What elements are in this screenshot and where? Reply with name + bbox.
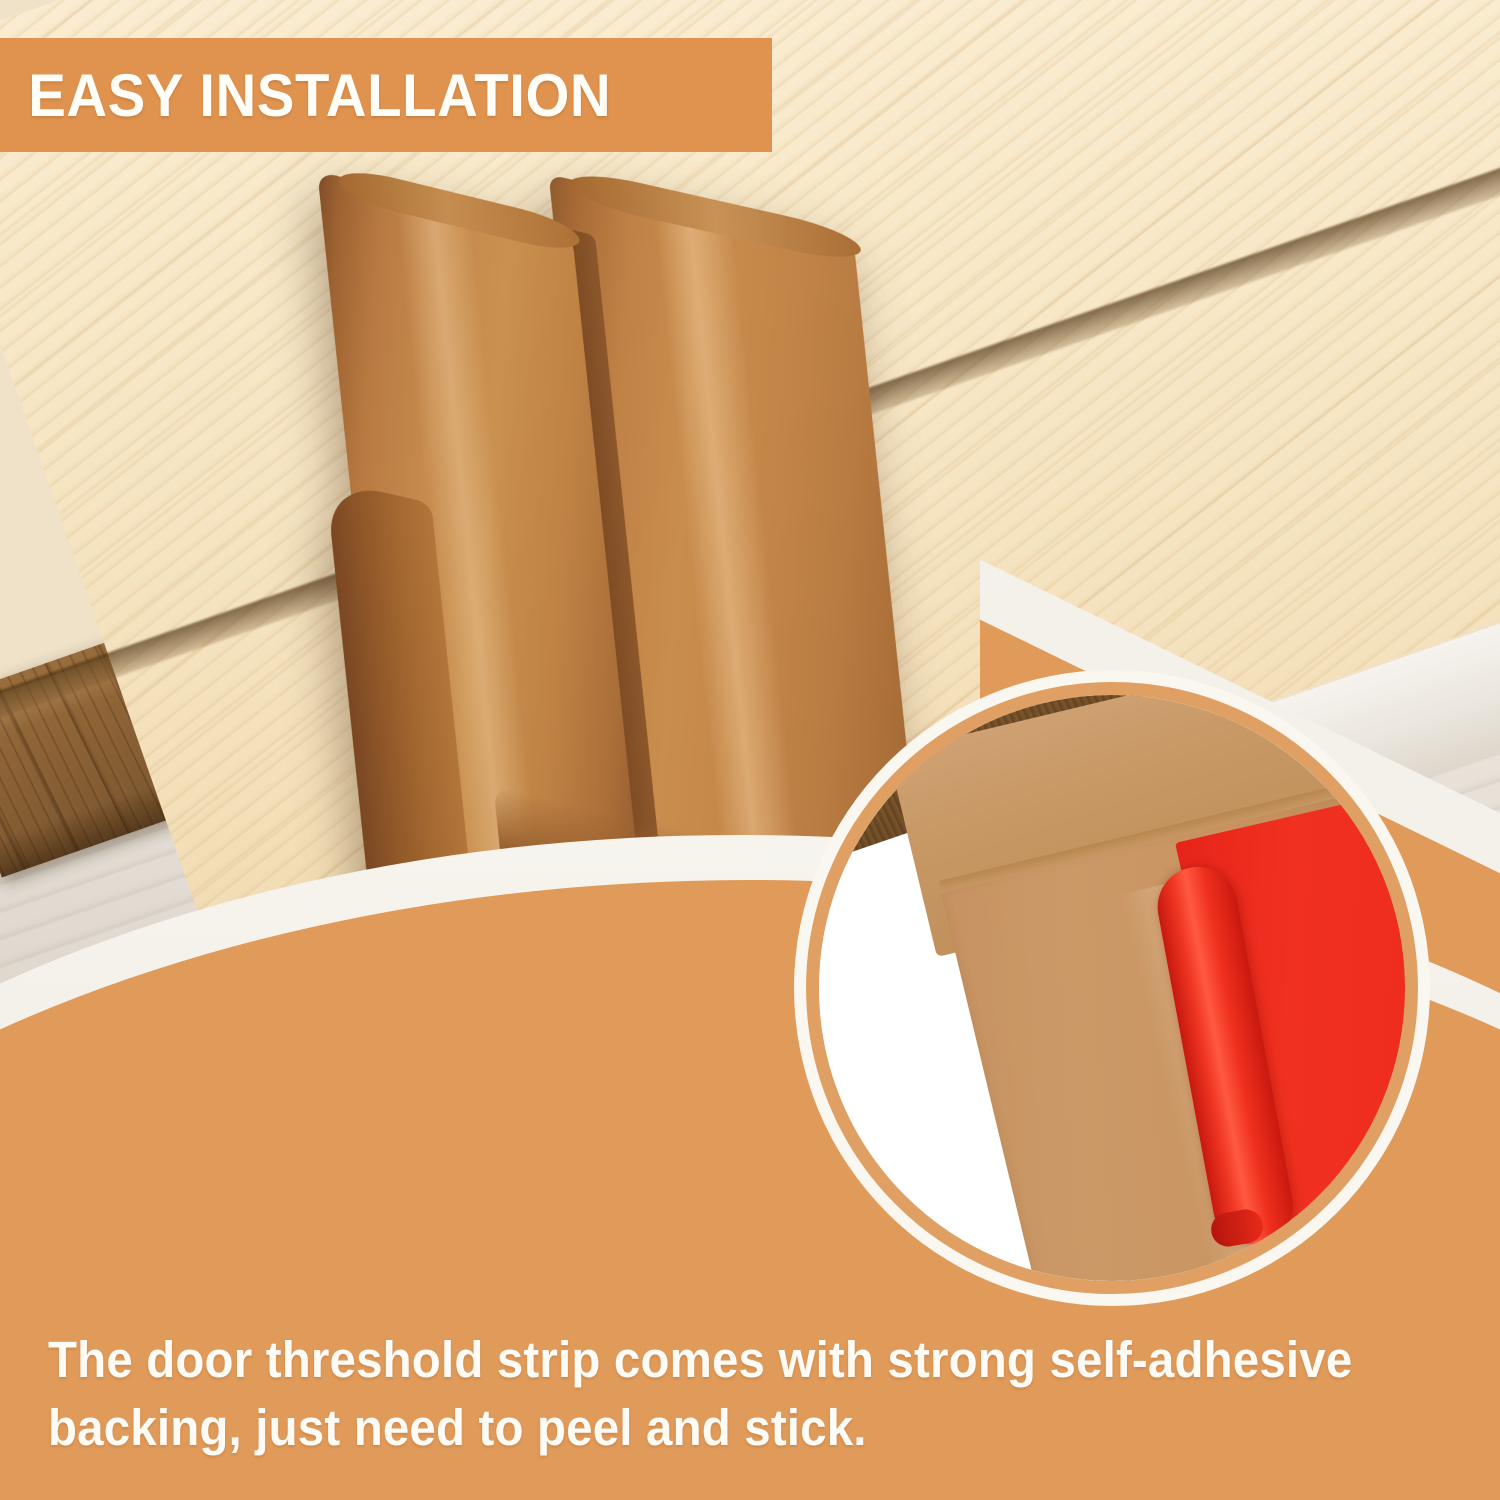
inset-photo	[819, 695, 1405, 1281]
caption-line-2: backing, just need to peel and stick.	[48, 1394, 1378, 1462]
product-marketing-image: EASY INSTALLATION The door threshold str…	[0, 0, 1500, 1500]
header-banner: EASY INSTALLATION	[0, 38, 772, 152]
caption-line-1: The door threshold strip comes with stro…	[48, 1326, 1378, 1394]
caption-text: The door threshold strip comes with stro…	[48, 1326, 1378, 1462]
banner-title: EASY INSTALLATION	[0, 61, 611, 130]
closeup-inset-circle	[806, 682, 1418, 1294]
strip-back-highlight	[652, 198, 806, 932]
